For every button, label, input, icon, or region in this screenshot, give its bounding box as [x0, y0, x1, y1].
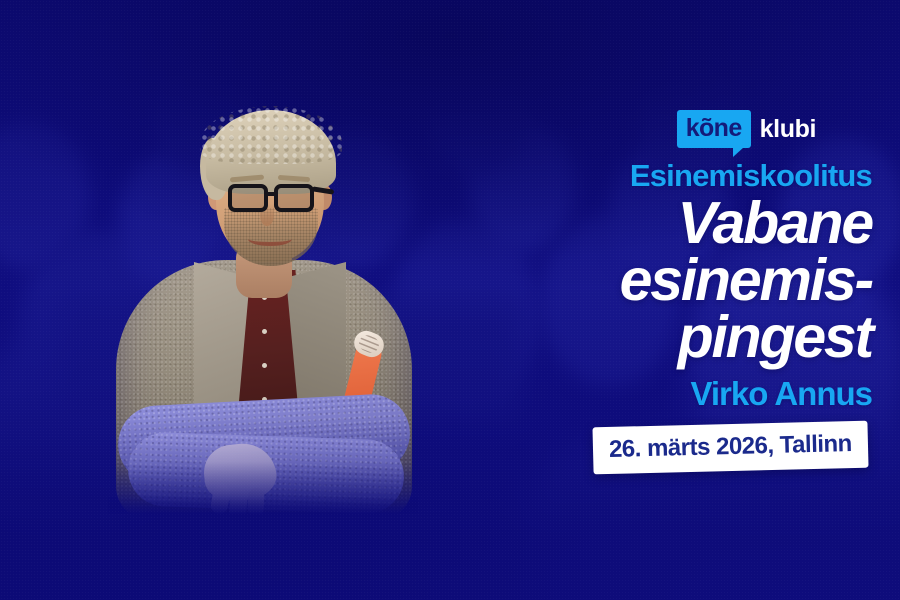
speaker-portrait [108, 92, 418, 532]
speaker-name: Virko Annus [452, 376, 872, 412]
date-badge-wrapper: 26. märts 2026, Tallinn [452, 424, 868, 471]
poster-content: kõne klubi Esinemiskoolitus Vabane esine… [452, 110, 872, 471]
event-poster: kõne klubi Esinemiskoolitus Vabane esine… [0, 0, 900, 600]
glasses-bridge [266, 192, 278, 196]
glasses-lens-right [274, 184, 314, 212]
headline-line-2: esinemis- [452, 252, 872, 309]
kone-klubi-logo: kõne klubi [452, 110, 816, 148]
speaker-hair [206, 110, 336, 194]
page-title: Vabane esinemis- pingest [452, 195, 872, 367]
glasses-lens-left [228, 184, 268, 212]
headline-line-1: Vabane [452, 195, 872, 252]
kicker-text: Esinemiskoolitus [452, 160, 872, 193]
speaker-smile [248, 232, 292, 246]
headline-line-3: pingest [452, 309, 872, 366]
speech-bubble-icon: kõne [677, 110, 751, 148]
date-location-badge: 26. märts 2026, Tallinn [593, 420, 869, 474]
logo-word-klubi: klubi [760, 117, 816, 142]
